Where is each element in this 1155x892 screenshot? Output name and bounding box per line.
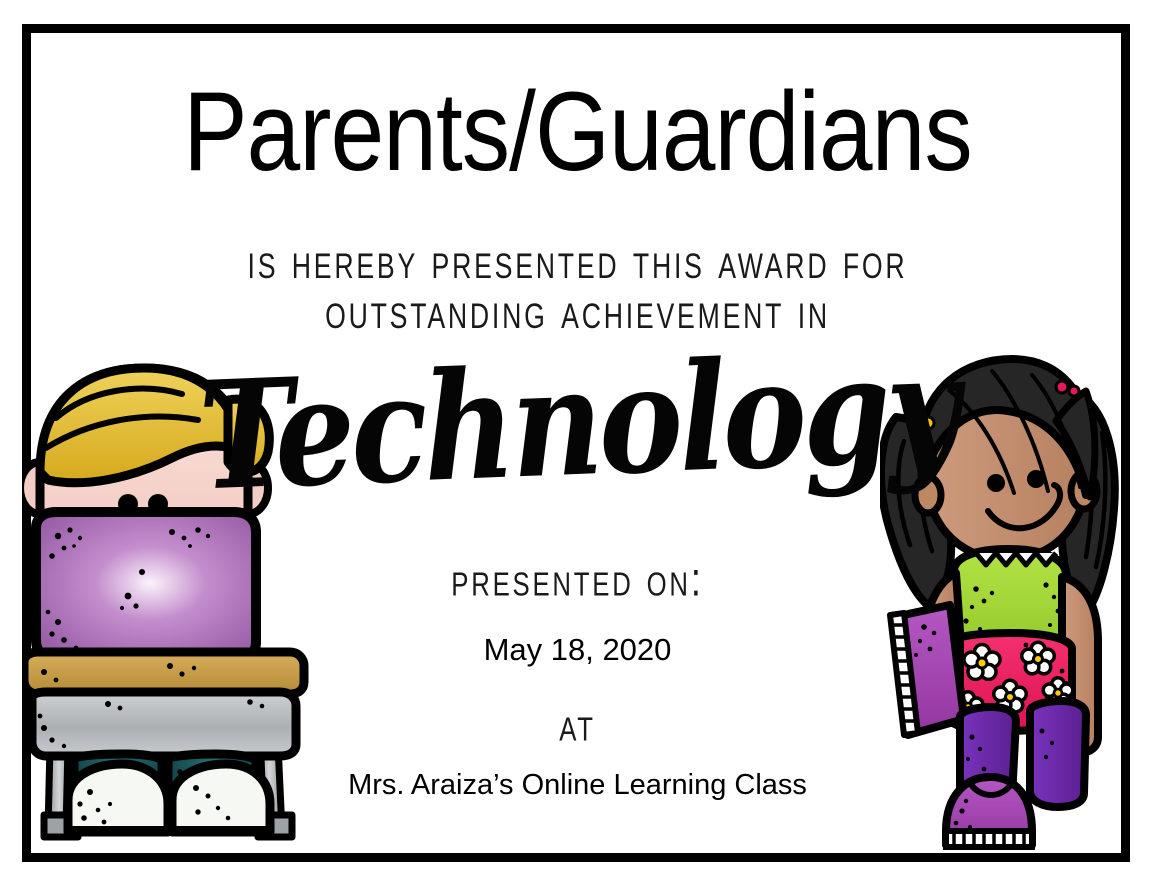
certificate-page: Parents/Guardians Is hereby presented th… bbox=[0, 0, 1155, 892]
certificate-border bbox=[22, 24, 1130, 862]
